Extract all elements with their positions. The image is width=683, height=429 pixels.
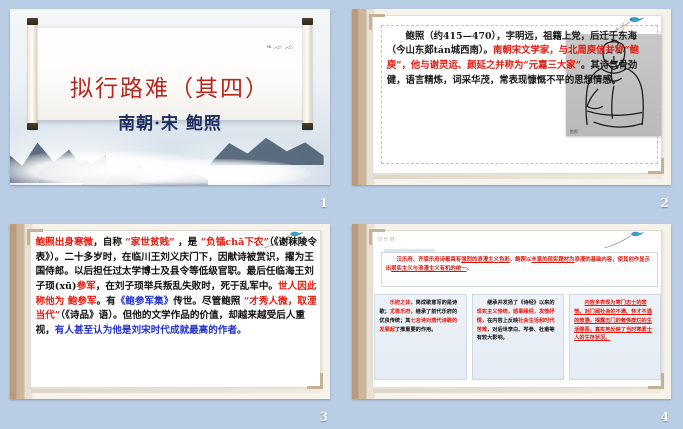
- slide-number-3: 3: [320, 410, 328, 424]
- flying-birds-icon: ❧ ᨒ ᨒ: [266, 43, 294, 52]
- column-2-text: 继承并发扬了《诗经》以来的现实主义传统，感事缘经，发愤抒情，在内容上反映社会生活…: [477, 299, 559, 343]
- slide-number-1: 1: [320, 196, 328, 210]
- slide-number-2: 2: [661, 196, 669, 210]
- slide-2-biography[interactable]: 鲍照 鲍照（约415—470），字明远，祖籍上党，后迁于东海（今山东郯tán城西…: [352, 9, 671, 185]
- scroll-cap-top-left: [27, 18, 38, 25]
- author-life-paragraph: 鲍照出身寒微，自称 “家世贫贱” ，是 “负锸chā下农”（《谢秣陵令表》）。二…: [36, 236, 318, 374]
- page-bottom-edge: [373, 175, 662, 179]
- slide-cell-1[interactable]: ❧ ᨒ ᨒ 拟行路难（其四） 南朝·宋 鲍照 1: [0, 0, 342, 215]
- page-corner-bottom-right: [307, 373, 323, 389]
- biography-textbox: 鲍照（约415—470），字明远，祖籍上党，后迁于东海（今山东郯tán城西南）。…: [381, 25, 659, 164]
- analysis-columns: 乐府之体，简成歌意写的是诗歌；尤善乐府，继承了前代乐府的优良传统；其七言诗对唐代…: [374, 294, 661, 380]
- slide-1-title[interactable]: ❧ ᨒ ᨒ 拟行路难（其四） 南朝·宋 鲍照: [10, 9, 330, 185]
- slide-1-subtitle-text: 南朝·宋 鲍照: [10, 109, 330, 134]
- slide-cell-4[interactable]: 汉乐府 汉乐府、齐梁乐府诗都具有强烈的浪漫主义色彩，鲍照以丰富的现实题材为浪漫的…: [342, 215, 683, 429]
- scroll-cap-top-right: [302, 18, 313, 25]
- slide-1-title-text: 拟行路难（其四）: [10, 69, 330, 103]
- column-content-form[interactable]: 乐府之体，简成歌意写的是诗歌；尤善乐府，继承了前代乐府的优良传统；其七言诗对唐代…: [374, 294, 466, 380]
- slide-thumbnail-grid: ❧ ᨒ ᨒ 拟行路难（其四） 南朝·宋 鲍照 1: [0, 0, 683, 429]
- analysis-banner: 汉乐府、齐梁乐府诗都具有强烈的浪漫主义色彩，鲍照以丰富的现实题材为浪漫的基础内容…: [381, 252, 659, 287]
- slide-number-4: 4: [661, 410, 669, 424]
- column-3-text: 内容多表现为寒门志士的悲愤，对门阀社会的不满、怀才不遇的愤懑，揭露丑门的奢侈糜烂…: [574, 299, 656, 343]
- biography-highlight: 南朝宋文学家，与北周庾信并称“鲍庾”，他与谢灵运、颜延之并称为“元嘉三大家”: [387, 45, 639, 71]
- slide-cell-2[interactable]: 鲍照 鲍照（约415—470），字明远，祖籍上党，后迁于东海（今山东郯tán城西…: [342, 0, 683, 215]
- page-bottom-edge: [31, 389, 321, 393]
- slide-4-yuefu-analysis[interactable]: 汉乐府 汉乐府、齐梁乐府诗都具有强烈的浪漫主义色彩，鲍照以丰富的现实题材为浪漫的…: [352, 224, 671, 399]
- slide-3-author-life[interactable]: 鲍照出身寒微，自称 “家世贫贱” ，是 “负锸chā下农”（《谢秣陵令表》）。二…: [10, 224, 330, 399]
- page-bottom-edge: [373, 389, 662, 393]
- column-themes[interactable]: 内容多表现为寒门志士的悲愤，对门阀社会的不满、怀才不遇的愤懑，揭露丑门的奢侈糜烂…: [569, 294, 661, 380]
- column-1-text: 乐府之体，简成歌意写的是诗歌；尤善乐府，继承了前代乐府的优良传统；其七言诗对唐代…: [379, 299, 461, 334]
- mist-cloud-right: [119, 159, 311, 185]
- analysis-banner-text: 汉乐府、齐梁乐府诗都具有强烈的浪漫主义色彩，鲍照以丰富的现实题材为浪漫的基础内容…: [386, 256, 654, 274]
- slide-4-corner-tag: 汉乐府: [378, 236, 396, 243]
- biography-paragraph: 鲍照（约415—470），字明远，祖籍上党，后迁于东海（今山东郯tán城西南）。…: [387, 30, 653, 88]
- slide-cell-3[interactable]: 鲍照出身寒微，自称 “家世贫贱” ，是 “负锸chā下农”（《谢秣陵令表》）。二…: [0, 215, 342, 429]
- column-tradition[interactable]: 继承并发扬了《诗经》以来的现实主义传统，感事缘经，发愤抒情，在内容上反映社会生活…: [472, 294, 564, 380]
